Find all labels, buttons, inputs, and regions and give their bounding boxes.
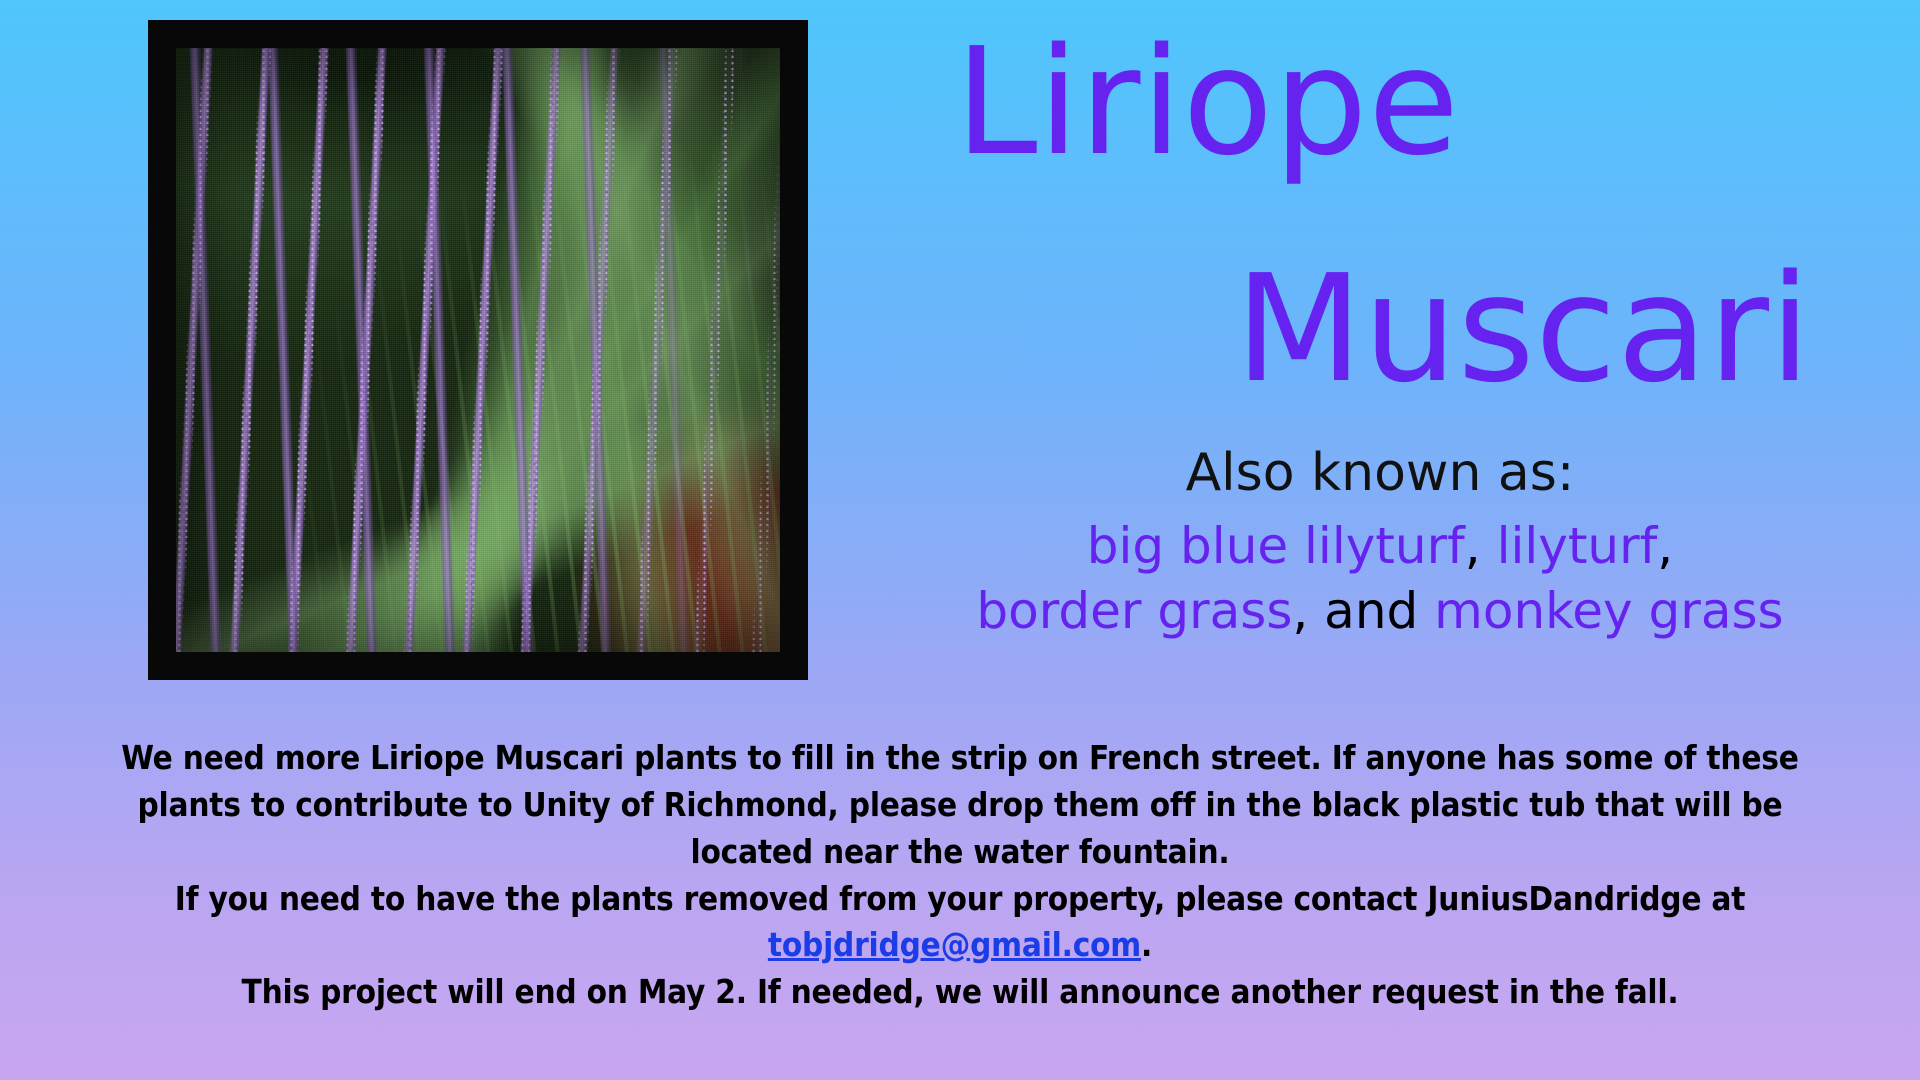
plant-title-line-1: Liriope xyxy=(955,28,1460,176)
alias-punctuation-1-1: , xyxy=(1465,517,1497,575)
alias-block: Also known as: big blue lilyturf, lilytu… xyxy=(960,440,1800,644)
body-paragraph-2-text: If you need to have the plants removed f… xyxy=(175,879,1745,918)
alias-row-2: border grass, and monkey grass xyxy=(960,579,1800,644)
body-paragraph-3: This project will end on May 2. If neede… xyxy=(110,969,1810,1016)
plant-title-line-2: Muscari xyxy=(1235,255,1811,403)
alias-heading: Also known as: xyxy=(960,440,1800,508)
poster-canvas: Liriope Muscari Also known as: big blue … xyxy=(0,0,1920,1080)
alias-name-1-0: big blue lilyturf xyxy=(1087,517,1465,575)
photo-vignette xyxy=(176,48,780,652)
alias-row-1: big blue lilyturf, lilyturf, xyxy=(960,514,1800,579)
alias-name-2-0: border grass xyxy=(976,582,1292,640)
email-link[interactable]: tobjdridge@gmail.com xyxy=(768,925,1141,964)
alias-punctuation-2-1: , and xyxy=(1292,582,1434,640)
body-paragraph-1: We need more Liriope Muscari plants to f… xyxy=(110,735,1810,876)
body-paragraph-2-period: . xyxy=(1141,925,1152,964)
alias-name-2-2: monkey grass xyxy=(1434,582,1783,640)
body-text-block: We need more Liriope Muscari plants to f… xyxy=(110,735,1810,1016)
body-paragraph-2: If you need to have the plants removed f… xyxy=(110,876,1810,970)
plant-photo-frame xyxy=(148,20,808,680)
plant-photo xyxy=(176,48,780,652)
alias-name-1-2: lilyturf xyxy=(1497,517,1658,575)
alias-punctuation-1-3: , xyxy=(1657,517,1673,575)
